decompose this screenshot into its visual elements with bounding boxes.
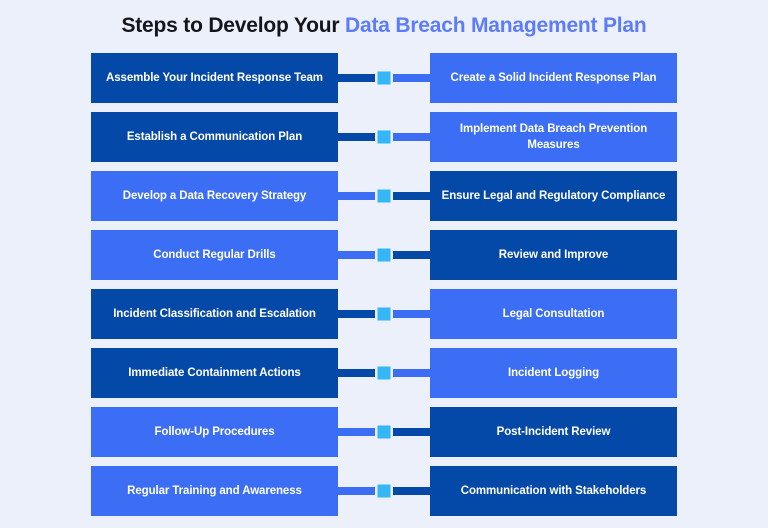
connector-bar-right (393, 369, 430, 377)
connector-bar-right (393, 133, 430, 141)
step-connector (338, 53, 430, 103)
step-box-right[interactable]: Post-Incident Review (430, 407, 677, 457)
infographic-root: Steps to Develop Your Data Breach Manage… (0, 0, 768, 528)
connector-node-icon (378, 308, 391, 321)
step-box-right[interactable]: Review and Improve (430, 230, 677, 280)
connector-bar-right (393, 310, 430, 318)
connector-node-icon (378, 426, 391, 439)
connector-node-icon (378, 485, 391, 498)
step-box-left[interactable]: Follow-Up Procedures (91, 407, 338, 457)
step-box-left[interactable]: Conduct Regular Drills (91, 230, 338, 280)
step-box-right[interactable]: Create a Solid Incident Response Plan (430, 53, 677, 103)
step-row: Regular Training and AwarenessCommunicat… (91, 466, 677, 516)
step-connector (338, 466, 430, 516)
step-box-left[interactable]: Establish a Communication Plan (91, 112, 338, 162)
page-title-accent: Data Breach Management Plan (345, 14, 647, 37)
step-row: Conduct Regular DrillsReview and Improve (91, 230, 677, 280)
step-row: Incident Classification and EscalationLe… (91, 289, 677, 339)
page-title: Steps to Develop Your Data Breach Manage… (0, 14, 768, 38)
step-connector (338, 407, 430, 457)
step-connector (338, 348, 430, 398)
connector-bar-right (393, 74, 430, 82)
step-box-right[interactable]: Legal Consultation (430, 289, 677, 339)
connector-bar-left (338, 310, 375, 318)
connector-node-icon (378, 190, 391, 203)
connector-node-icon (378, 131, 391, 144)
step-row: Assemble Your Incident Response TeamCrea… (91, 53, 677, 103)
connector-bar-right (393, 192, 430, 200)
page-title-lead: Steps to Develop Your (121, 14, 345, 37)
step-box-left[interactable]: Immediate Containment Actions (91, 348, 338, 398)
step-box-left[interactable]: Develop a Data Recovery Strategy (91, 171, 338, 221)
connector-bar-left (338, 133, 375, 141)
step-connector (338, 112, 430, 162)
step-connector (338, 171, 430, 221)
connector-bar-right (393, 251, 430, 259)
connector-bar-left (338, 192, 375, 200)
step-box-left[interactable]: Assemble Your Incident Response Team (91, 53, 338, 103)
step-box-left[interactable]: Incident Classification and Escalation (91, 289, 338, 339)
connector-bar-left (338, 251, 375, 259)
connector-node-icon (378, 249, 391, 262)
step-rows: Assemble Your Incident Response TeamCrea… (91, 53, 677, 516)
step-box-right[interactable]: Communication with Stakeholders (430, 466, 677, 516)
connector-bar-left (338, 369, 375, 377)
step-row: Follow-Up ProceduresPost-Incident Review (91, 407, 677, 457)
step-row: Develop a Data Recovery StrategyEnsure L… (91, 171, 677, 221)
step-box-left[interactable]: Regular Training and Awareness (91, 466, 338, 516)
connector-bar-right (393, 428, 430, 436)
step-row: Immediate Containment ActionsIncident Lo… (91, 348, 677, 398)
connector-bar-left (338, 428, 375, 436)
step-box-right[interactable]: Incident Logging (430, 348, 677, 398)
connector-node-icon (378, 367, 391, 380)
step-row: Establish a Communication PlanImplement … (91, 112, 677, 162)
step-box-right[interactable]: Ensure Legal and Regulatory Compliance (430, 171, 677, 221)
step-connector (338, 230, 430, 280)
connector-node-icon (378, 72, 391, 85)
connector-bar-left (338, 74, 375, 82)
connector-bar-right (393, 487, 430, 495)
step-box-right[interactable]: Implement Data Breach Prevention Measure… (430, 112, 677, 162)
step-connector (338, 289, 430, 339)
connector-bar-left (338, 487, 375, 495)
